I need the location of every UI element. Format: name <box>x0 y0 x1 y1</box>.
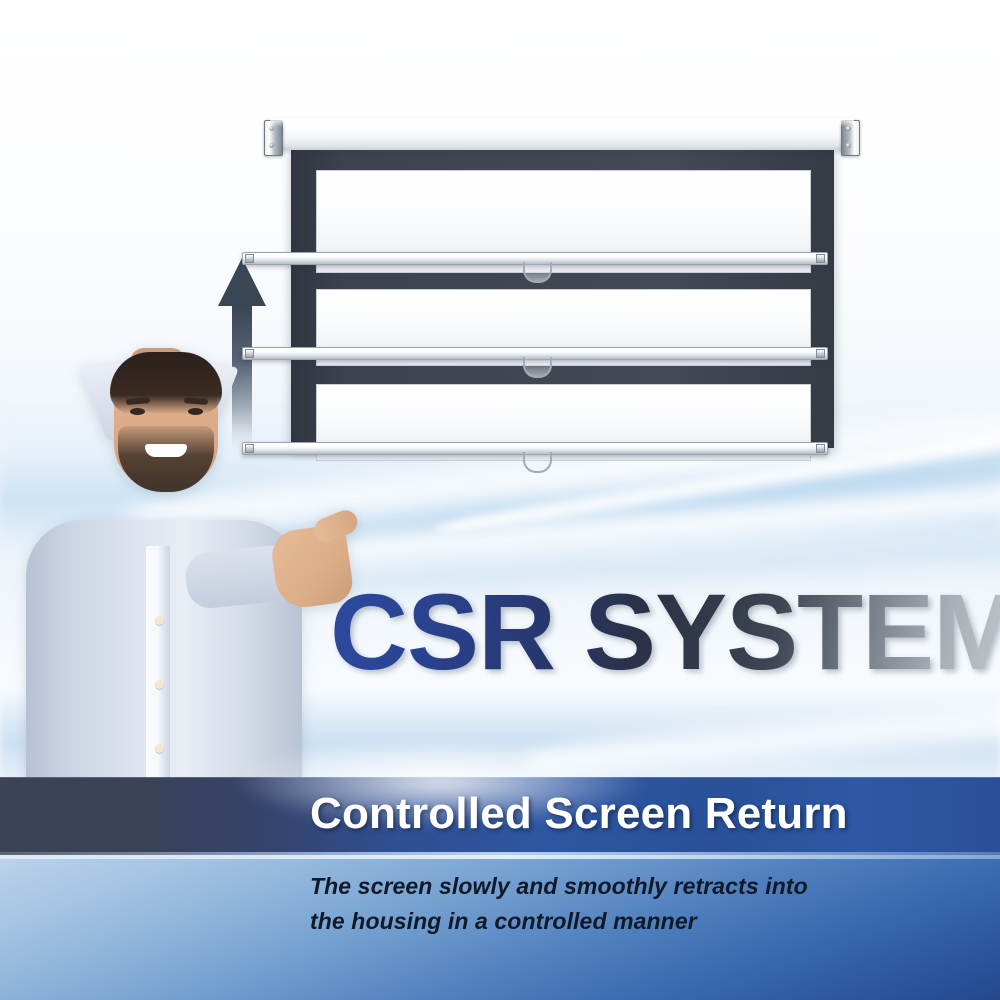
bar-end-cap-left <box>245 349 254 358</box>
screen-frame <box>291 148 834 448</box>
shirt-button-icon <box>155 680 164 689</box>
bracket-screw-icon <box>269 126 274 131</box>
presenter-beard <box>118 426 214 492</box>
bar-end-cap-right <box>816 254 825 263</box>
bracket-screw-icon <box>846 143 851 148</box>
mounting-bracket-left <box>264 120 283 156</box>
bar-end-cap-left <box>245 254 254 263</box>
description-line-2: the housing in a controlled manner <box>310 908 697 935</box>
weighted-bar-1 <box>242 252 828 265</box>
page-title: CSR SYSTEM <box>330 578 1000 686</box>
bracket-screw-icon <box>269 143 274 148</box>
projection-screen-illustration <box>262 118 862 453</box>
bracket-screw-icon <box>846 126 851 131</box>
bar-end-cap-right <box>816 444 825 453</box>
bar-end-cap-right <box>816 349 825 358</box>
bar-end-cap-left <box>245 444 254 453</box>
presenter-hair <box>110 352 222 414</box>
mounting-bracket-right <box>841 120 860 156</box>
poster-canvas: CSR SYSTEM Controlled Screen Return The … <box>0 0 1000 1000</box>
headline-banner: Controlled Screen Return <box>0 777 1000 855</box>
shirt-button-icon <box>155 616 164 625</box>
weighted-bar-3 <box>242 442 828 455</box>
weighted-bar-2 <box>242 347 828 360</box>
shirt-button-icon <box>155 744 164 753</box>
arrow-head <box>218 258 266 306</box>
screen-housing <box>270 118 854 150</box>
description-line-1: The screen slowly and smoothly retracts … <box>310 873 808 900</box>
presenter-smile <box>145 444 187 457</box>
banner-title: Controlled Screen Return <box>310 789 848 839</box>
footer-panel: The screen slowly and smoothly retracts … <box>0 855 1000 1000</box>
